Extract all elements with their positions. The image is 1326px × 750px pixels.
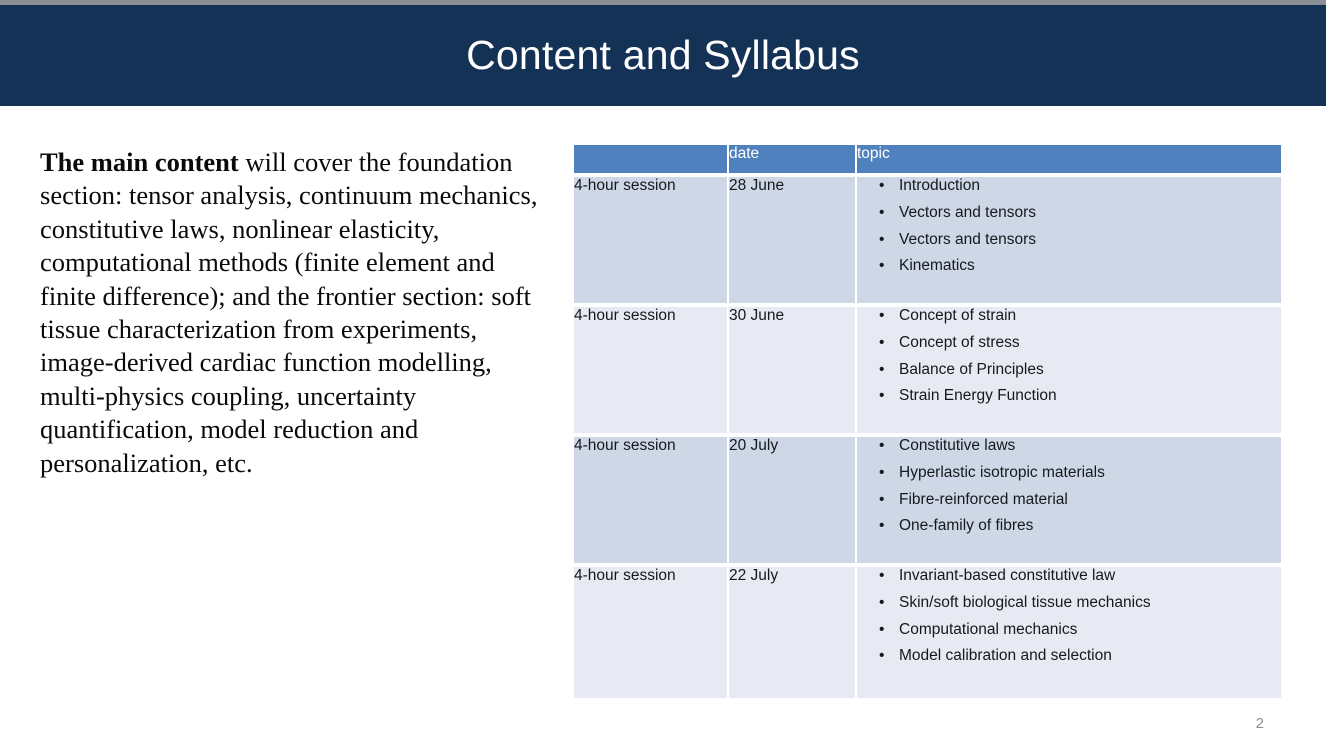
bullet-icon: • [879, 307, 884, 325]
bullet-icon: • [879, 177, 884, 195]
cell-date: 30 June [729, 307, 857, 433]
column-header-session [574, 145, 729, 173]
left-content-pane: The main content will cover the foundati… [40, 146, 540, 480]
topic-list: •Concept of strain •Concept of stress •B… [857, 307, 1281, 405]
body-paragraph-lead: The main content [40, 147, 239, 177]
cell-date: 28 June [729, 177, 857, 303]
bullet-icon: • [879, 517, 884, 535]
cell-session: 4-hour session [574, 567, 729, 698]
table-row: 4-hour session 20 July •Constitutive law… [574, 437, 1281, 563]
topic-text: Fibre-reinforced material [899, 491, 1068, 508]
bullet-icon: • [879, 647, 884, 665]
topic-text: Model calibration and selection [899, 647, 1112, 664]
page-title: Content and Syllabus [466, 35, 860, 76]
bullet-icon: • [879, 334, 884, 352]
topic-list: •Introduction •Vectors and tensors •Vect… [857, 177, 1281, 275]
table-header-row: date topic [574, 145, 1281, 173]
topic-text: Concept of strain [899, 307, 1016, 324]
topic-text: Balance of Principles [899, 361, 1044, 378]
cell-session: 4-hour session [574, 307, 729, 433]
topic-list: •Invariant-based constitutive law •Skin/… [857, 567, 1281, 665]
cell-topic: •Constitutive laws •Hyperlastic isotropi… [857, 437, 1281, 563]
topic-text: Constitutive laws [899, 437, 1015, 454]
body-paragraph: The main content will cover the foundati… [40, 146, 540, 480]
bullet-icon: • [879, 437, 884, 455]
topic-text: Computational mechanics [899, 621, 1077, 638]
topic-text: One-family of fibres [899, 517, 1033, 534]
cell-topic: •Invariant-based constitutive law •Skin/… [857, 567, 1281, 698]
table-row: 4-hour session 30 June •Concept of strai… [574, 307, 1281, 433]
topic-text: Kinematics [899, 257, 975, 274]
bullet-icon: • [879, 621, 884, 639]
list-item: •Fibre-reinforced material [857, 491, 1281, 509]
bullet-icon: • [879, 231, 884, 249]
list-item: •Strain Energy Function [857, 387, 1281, 405]
cell-topic: •Introduction •Vectors and tensors •Vect… [857, 177, 1281, 303]
topic-text: Concept of stress [899, 334, 1020, 351]
column-header-date: date [729, 145, 857, 173]
list-item: •Constitutive laws [857, 437, 1281, 455]
list-item: •Concept of stress [857, 334, 1281, 352]
topic-text: Vectors and tensors [899, 204, 1036, 221]
bullet-icon: • [879, 594, 884, 612]
cell-topic: •Concept of strain •Concept of stress •B… [857, 307, 1281, 433]
topic-text: Strain Energy Function [899, 387, 1057, 404]
topic-text: Vectors and tensors [899, 231, 1036, 248]
syllabus-table: date topic 4-hour session 28 June •Intro… [574, 145, 1281, 698]
bullet-icon: • [879, 464, 884, 482]
topic-text: Invariant-based constitutive law [899, 567, 1115, 584]
page-number: 2 [1256, 715, 1264, 732]
list-item: •Model calibration and selection [857, 647, 1281, 665]
list-item: •Concept of strain [857, 307, 1281, 325]
topic-text: Hyperlastic isotropic materials [899, 464, 1105, 481]
topic-list: •Constitutive laws •Hyperlastic isotropi… [857, 437, 1281, 535]
table-row: 4-hour session 22 July •Invariant-based … [574, 567, 1281, 698]
column-header-topic: topic [857, 145, 1281, 173]
body-paragraph-rest: will cover the foundation section: tenso… [40, 147, 538, 478]
list-item: •Vectors and tensors [857, 204, 1281, 222]
cell-session: 4-hour session [574, 437, 729, 563]
bullet-icon: • [879, 257, 884, 275]
list-item: •One-family of fibres [857, 517, 1281, 535]
slide-title-banner: Content and Syllabus [0, 5, 1326, 106]
bullet-icon: • [879, 361, 884, 379]
cell-date: 22 July [729, 567, 857, 698]
list-item: •Invariant-based constitutive law [857, 567, 1281, 585]
list-item: •Computational mechanics [857, 621, 1281, 639]
cell-session: 4-hour session [574, 177, 729, 303]
list-item: •Hyperlastic isotropic materials [857, 464, 1281, 482]
cell-date: 20 July [729, 437, 857, 563]
list-item: •Vectors and tensors [857, 231, 1281, 249]
list-item: •Kinematics [857, 257, 1281, 275]
list-item: •Skin/soft biological tissue mechanics [857, 594, 1281, 612]
topic-text: Skin/soft biological tissue mechanics [899, 594, 1151, 611]
bullet-icon: • [879, 204, 884, 222]
topic-text: Introduction [899, 177, 980, 194]
list-item: •Balance of Principles [857, 361, 1281, 379]
bullet-icon: • [879, 491, 884, 509]
table-row: 4-hour session 28 June •Introduction •Ve… [574, 177, 1281, 303]
list-item: •Introduction [857, 177, 1281, 195]
bullet-icon: • [879, 387, 884, 405]
bullet-icon: • [879, 567, 884, 585]
